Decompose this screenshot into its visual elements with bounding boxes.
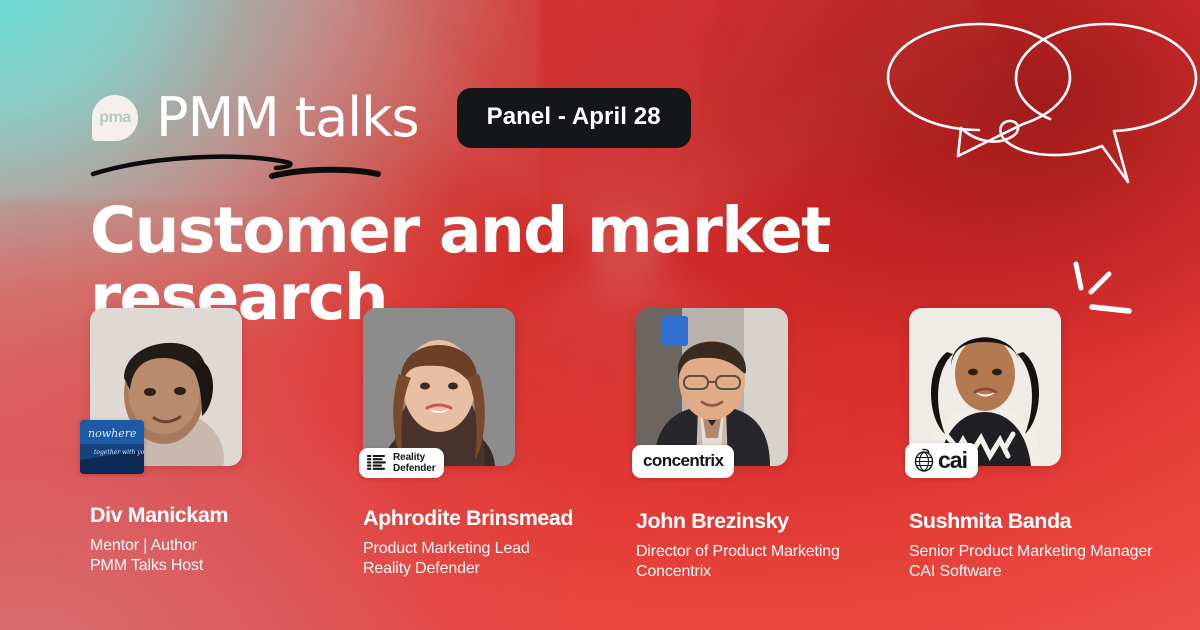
speaker-name: Sushmita Banda [909, 509, 1109, 535]
pma-logo-icon: pma [92, 95, 138, 141]
company-logo-badge: cai [905, 443, 978, 478]
speaker-meta: Director of Product Marketing Concentrix [636, 542, 909, 582]
promo-graphic: pma PMM talks Panel - April 28 Customer … [0, 0, 1200, 630]
badge-label: concentrix [641, 450, 725, 473]
badge-label-line2: Defender [393, 463, 436, 474]
book-cover-badge: nowhere together with you [80, 420, 144, 474]
speaker-company: CAI Software [909, 562, 1109, 582]
speaker-list: nowhere together with you Div Manickam M… [90, 308, 1110, 582]
speech-bubbles-icon [866, 0, 1200, 196]
speaker-meta: Mentor | Author PMM Talks Host [90, 536, 363, 576]
speaker-meta: Product Marketing Lead Reality Defender [363, 539, 636, 579]
company-logo-badge: Reality Defender [359, 448, 444, 478]
avatar [363, 308, 515, 466]
speaker-photo-wrap: cai [909, 308, 1061, 466]
cai-globe-logo-icon [913, 448, 935, 472]
speaker-card: nowhere together with you Div Manickam M… [90, 308, 363, 582]
event-date-badge: Panel - April 28 [457, 88, 691, 148]
badge-label-line1: Reality [393, 452, 436, 463]
speaker-company: Concentrix [636, 562, 909, 582]
hand-drawn-underline-icon [90, 150, 390, 186]
speaker-role: Senior Product Marketing Manager [909, 542, 1109, 562]
speaker-name: Aphrodite Brinsmead [363, 506, 636, 532]
svg-text:together with you: together with you [94, 449, 144, 456]
speaker-photo-wrap: nowhere together with you [90, 308, 242, 466]
svg-text:nowhere: nowhere [88, 427, 137, 440]
speaker-company: Reality Defender [363, 559, 636, 579]
brand-header: pma PMM talks Panel - April 28 [92, 88, 691, 148]
speaker-name: Div Manickam [90, 503, 363, 529]
reality-defender-logo-icon [367, 454, 387, 472]
speaker-role: Director of Product Marketing [636, 542, 909, 562]
speaker-meta: Senior Product Marketing Manager CAI Sof… [909, 542, 1109, 582]
speaker-photo-wrap: concentrix [636, 308, 788, 466]
speaker-card: cai Sushmita Banda Senior Product Market… [909, 308, 1109, 582]
speaker-company: PMM Talks Host [90, 556, 363, 576]
company-logo-badge: concentrix [632, 445, 734, 478]
speaker-photo-wrap: Reality Defender [363, 308, 515, 466]
speaker-role: Product Marketing Lead [363, 539, 636, 559]
speaker-role: Mentor | Author [90, 536, 363, 556]
speaker-card: concentrix John Brezinsky Director of Pr… [636, 308, 909, 582]
avatar [636, 308, 788, 466]
speaker-card: Reality Defender Aphrodite Brinsmead Pro… [363, 308, 636, 582]
speaker-name: John Brezinsky [636, 509, 909, 535]
brand-name: PMM talks [156, 91, 419, 145]
badge-label: cai [938, 449, 967, 472]
pma-logo-text: pma [99, 110, 130, 126]
